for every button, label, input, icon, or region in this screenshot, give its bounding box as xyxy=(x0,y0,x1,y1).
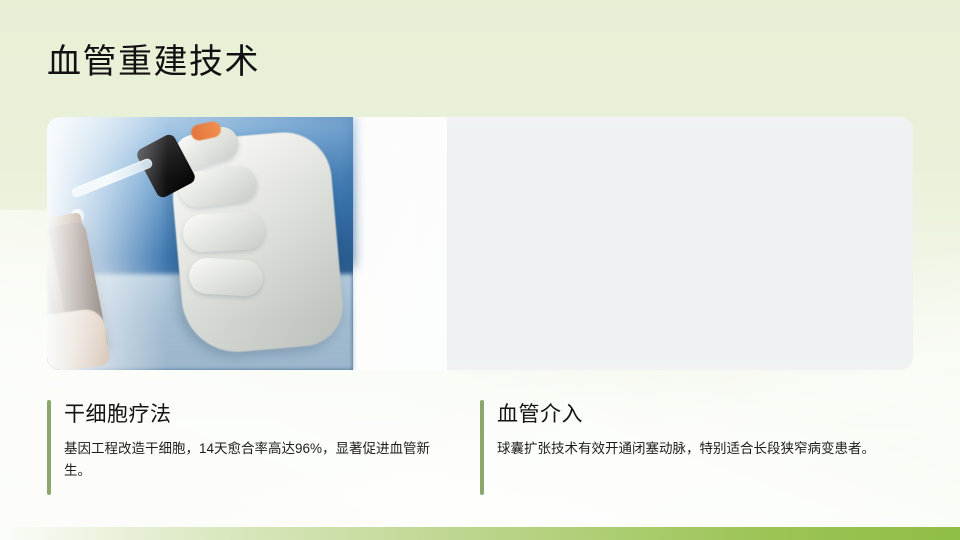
card-description: 球囊扩张技术有效开通闭塞动脉，特别适合长段狭窄病变患者。 xyxy=(497,438,890,460)
feature-card-stem-cell: 干细胞疗法 基因工程改造干细胞，14天愈合率高达96%，显著促进血管新生。 xyxy=(47,400,480,500)
card-accent-bar xyxy=(47,400,51,495)
card-title: 干细胞疗法 xyxy=(64,400,480,430)
slide-canvas: 血管重建技术 xyxy=(0,0,960,540)
card-title: 血管介入 xyxy=(497,400,913,430)
hero-image xyxy=(47,117,913,370)
feature-card-list: 干细胞疗法 基因工程改造干细胞，14天愈合率高达96%，显著促进血管新生。 血管… xyxy=(47,400,913,500)
card-accent-bar xyxy=(480,400,484,495)
bottom-accent-bar xyxy=(0,527,960,540)
card-description: 基因工程改造干细胞，14天愈合率高达96%，显著促进血管新生。 xyxy=(64,438,457,482)
image-vignette xyxy=(47,117,913,370)
feature-card-vascular-intervention: 血管介入 球囊扩张技术有效开通闭塞动脉，特别适合长段狭窄病变患者。 xyxy=(480,400,913,500)
page-title: 血管重建技术 xyxy=(47,41,260,83)
